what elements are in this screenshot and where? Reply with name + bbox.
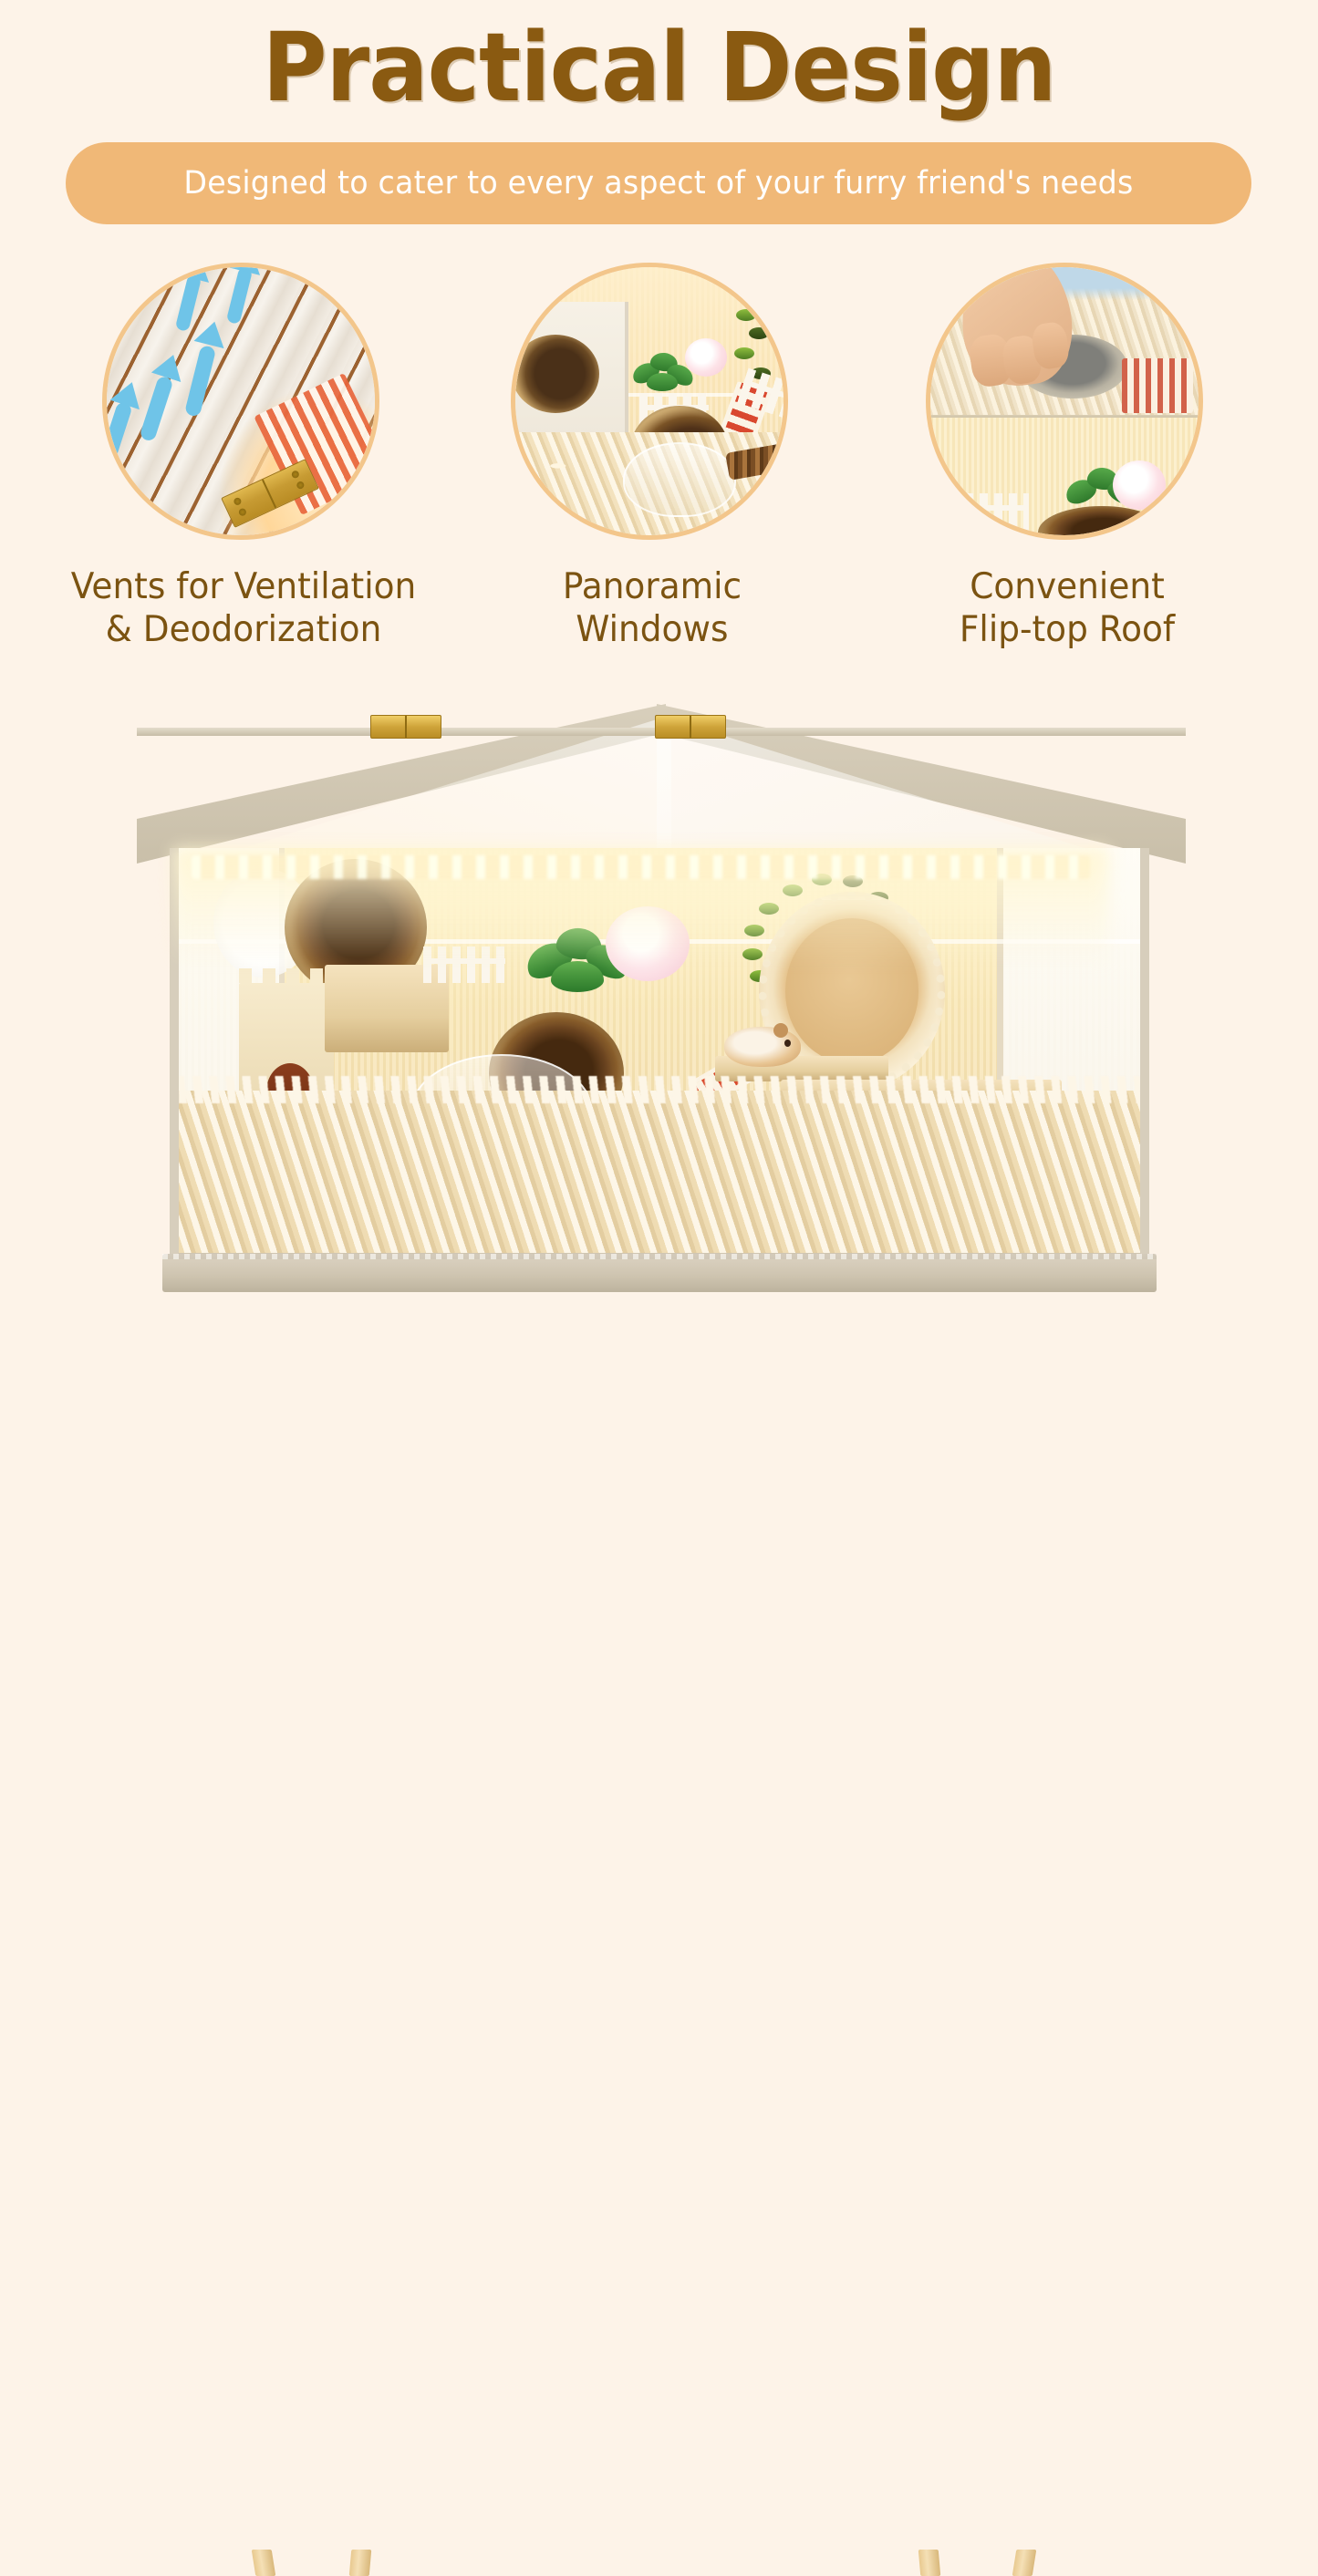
feature-caption-flip-top-roof: Convenient Flip-top Roof [863,565,1271,651]
flip-top-roof [137,704,1186,864]
feature-row: Vents for Ventilation & Deodorization [0,263,1318,682]
leg [252,2550,276,2576]
feature-caption-ventilation: Vents for Ventilation & Deodorization [39,565,447,651]
brass-hinge-icon [370,715,441,739]
feature-flip-top-roof: Convenient Flip-top Roof [926,263,1209,540]
rose-flower-icon [1113,460,1166,510]
rose-flower-icon [685,338,727,377]
bedding-shavings [179,1091,1140,1253]
feature-caption-panoramic-windows: Panoramic Windows [448,565,856,651]
feature-image-flip-top-roof [926,263,1203,540]
feature-image-panoramic-windows [511,263,788,540]
leg [349,2550,372,2576]
leg [918,2550,941,2576]
brass-hinge-icon [655,715,726,739]
hamster [724,1027,801,1067]
feature-ventilation: Vents for Ventilation & Deodorization [102,263,385,540]
subtitle-banner: Designed to cater to every aspect of you… [66,142,1251,224]
leg [1012,2550,1037,2576]
cabinet-base [162,1254,1157,1292]
feature-image-ventilation [102,263,379,540]
picket-fence-icon [950,493,1029,533]
striped-ramp-icon [1122,358,1193,413]
page-title: Practical Design [47,20,1272,115]
subtitle-text: Designed to cater to every aspect of you… [183,165,1133,202]
infographic-page: Practical Design Designed to cater to ev… [0,0,1318,1318]
feature-panoramic-windows: Panoramic Windows [511,263,794,540]
glass-bowl-icon [623,442,736,517]
wicker-nest-icon [515,335,599,413]
led-light-strip [192,855,1090,879]
